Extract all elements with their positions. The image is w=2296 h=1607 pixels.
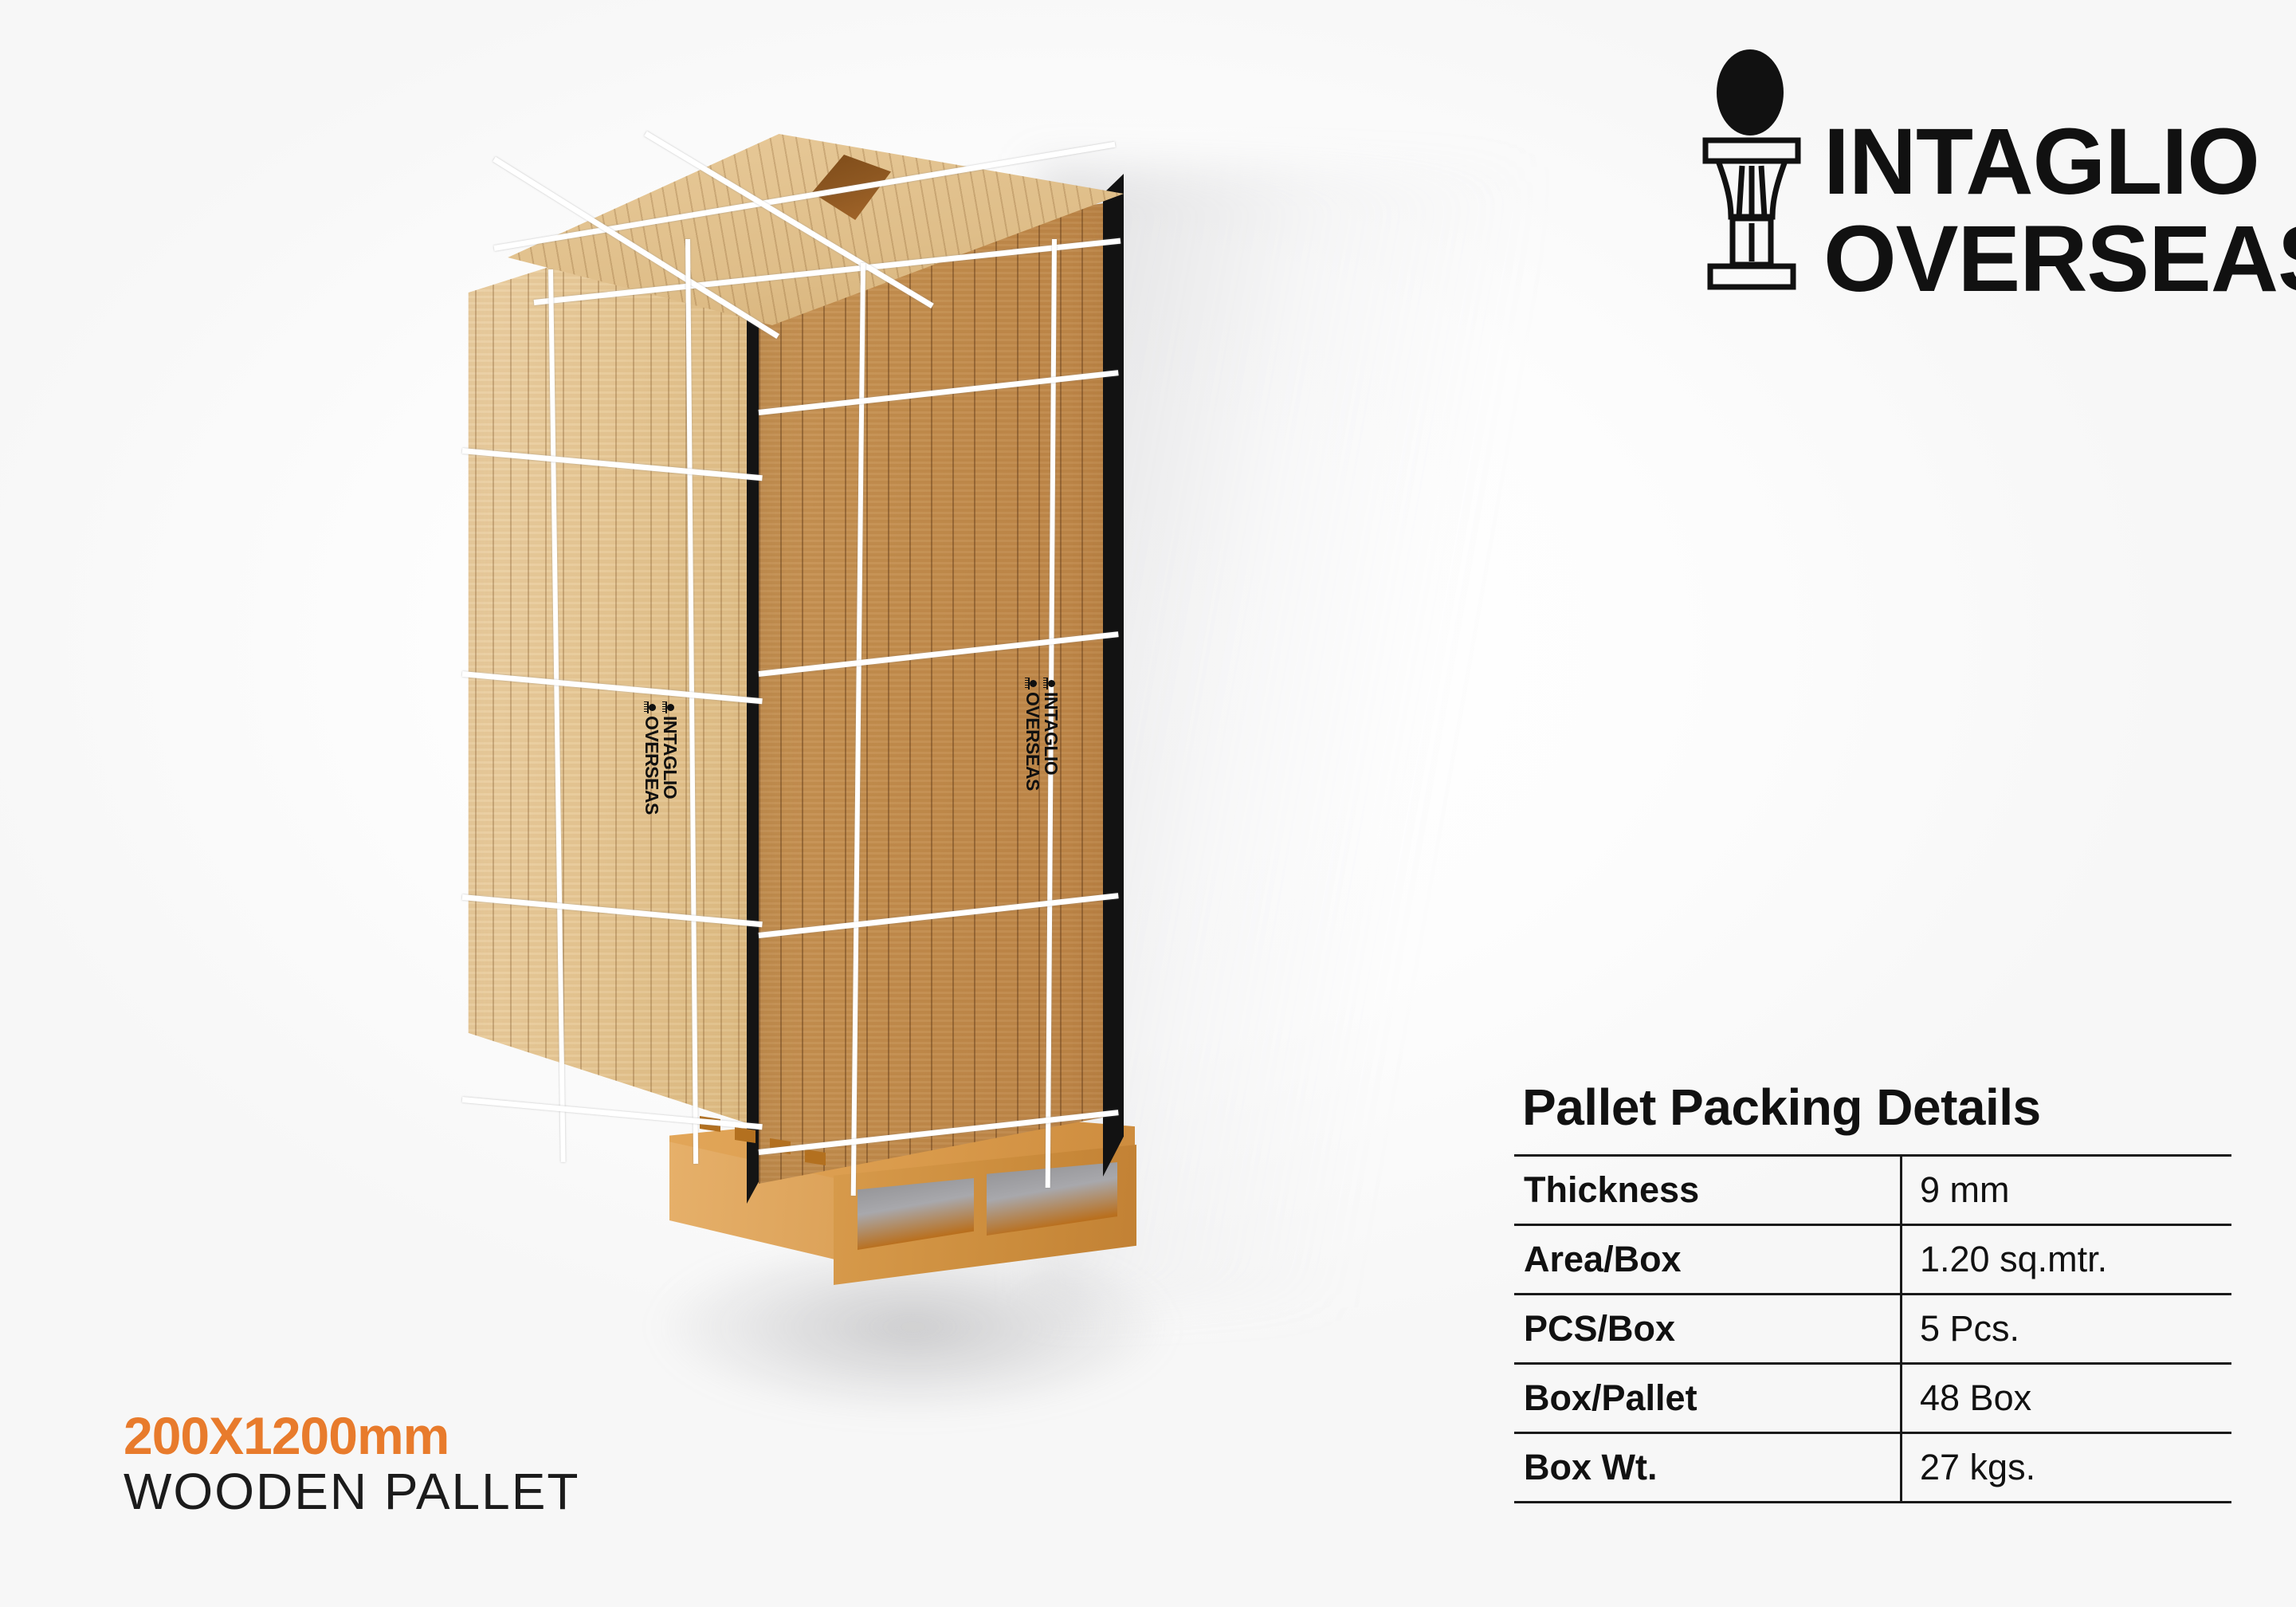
poster-canvas: INTAGLIO OVERSEAS <box>0 0 2296 1607</box>
table-row: Box Wt. 27 kgs. <box>1514 1433 2231 1503</box>
brand-line-2: OVERSEAS <box>1823 214 2296 306</box>
packing-details-table: Thickness 9 mm Area/Box 1.20 sq.mtr. PCS… <box>1514 1154 2231 1503</box>
row-value: 5 Pcs. <box>1902 1295 2232 1364</box>
pallet-stamp-left: INTAGLIO OVERSEAS <box>642 701 679 815</box>
brand-wordmark: INTAGLIO OVERSEAS <box>1823 116 2296 305</box>
column-icon-small <box>662 701 674 713</box>
panel-title: Pallet Packing Details <box>1522 1078 2231 1137</box>
row-value: 9 mm <box>1902 1156 2232 1225</box>
row-label: Thickness <box>1514 1156 1902 1225</box>
table-row: Box/Pallet 48 Box <box>1514 1364 2231 1433</box>
stamp-text-1: INTAGLIO <box>1041 692 1062 775</box>
row-label: PCS/Box <box>1514 1295 1902 1364</box>
stamp-text-1: INTAGLIO <box>660 716 681 799</box>
row-value: 48 Box <box>1902 1364 2232 1433</box>
logo-dot <box>1717 49 1784 136</box>
caption-type-label: WOODEN PALLET <box>124 1465 579 1519</box>
row-value: 27 kgs. <box>1902 1433 2232 1503</box>
pallet-stamp-right: INTAGLIO OVERSEAS <box>1022 678 1060 791</box>
classical-column-icon <box>1696 46 1815 293</box>
column-icon-small <box>1043 678 1055 690</box>
row-value: 1.20 sq.mtr. <box>1902 1225 2232 1295</box>
column-icon-small <box>644 701 656 713</box>
row-label: Area/Box <box>1514 1225 1902 1295</box>
column-icon-small <box>1025 678 1037 690</box>
row-label: Box/Pallet <box>1514 1364 1902 1433</box>
packing-details-panel: Pallet Packing Details Thickness 9 mm Ar… <box>1514 1078 2231 1503</box>
product-caption: 200X1200mm WOODEN PALLET <box>124 1409 579 1519</box>
row-label: Box Wt. <box>1514 1433 1902 1503</box>
brand-logo: INTAGLIO OVERSEAS <box>1696 46 2254 317</box>
table-row: PCS/Box 5 Pcs. <box>1514 1295 2231 1364</box>
brand-line-1: INTAGLIO <box>1823 116 2296 209</box>
table-body: Thickness 9 mm Area/Box 1.20 sq.mtr. PCS… <box>1514 1156 2231 1503</box>
stamp-text-2: OVERSEAS <box>642 716 662 815</box>
edge-strip-outer <box>1103 174 1124 1177</box>
stamp-text-2: OVERSEAS <box>1022 692 1043 791</box>
board-stack-right-face <box>759 191 1119 1184</box>
pallet-product-image: INTAGLIO OVERSEAS INTAGLIO OVERSEAS <box>446 143 1291 1451</box>
table-row: Area/Box 1.20 sq.mtr. <box>1514 1225 2231 1295</box>
caption-size-label: 200X1200mm <box>124 1409 579 1462</box>
table-row: Thickness 9 mm <box>1514 1156 2231 1225</box>
